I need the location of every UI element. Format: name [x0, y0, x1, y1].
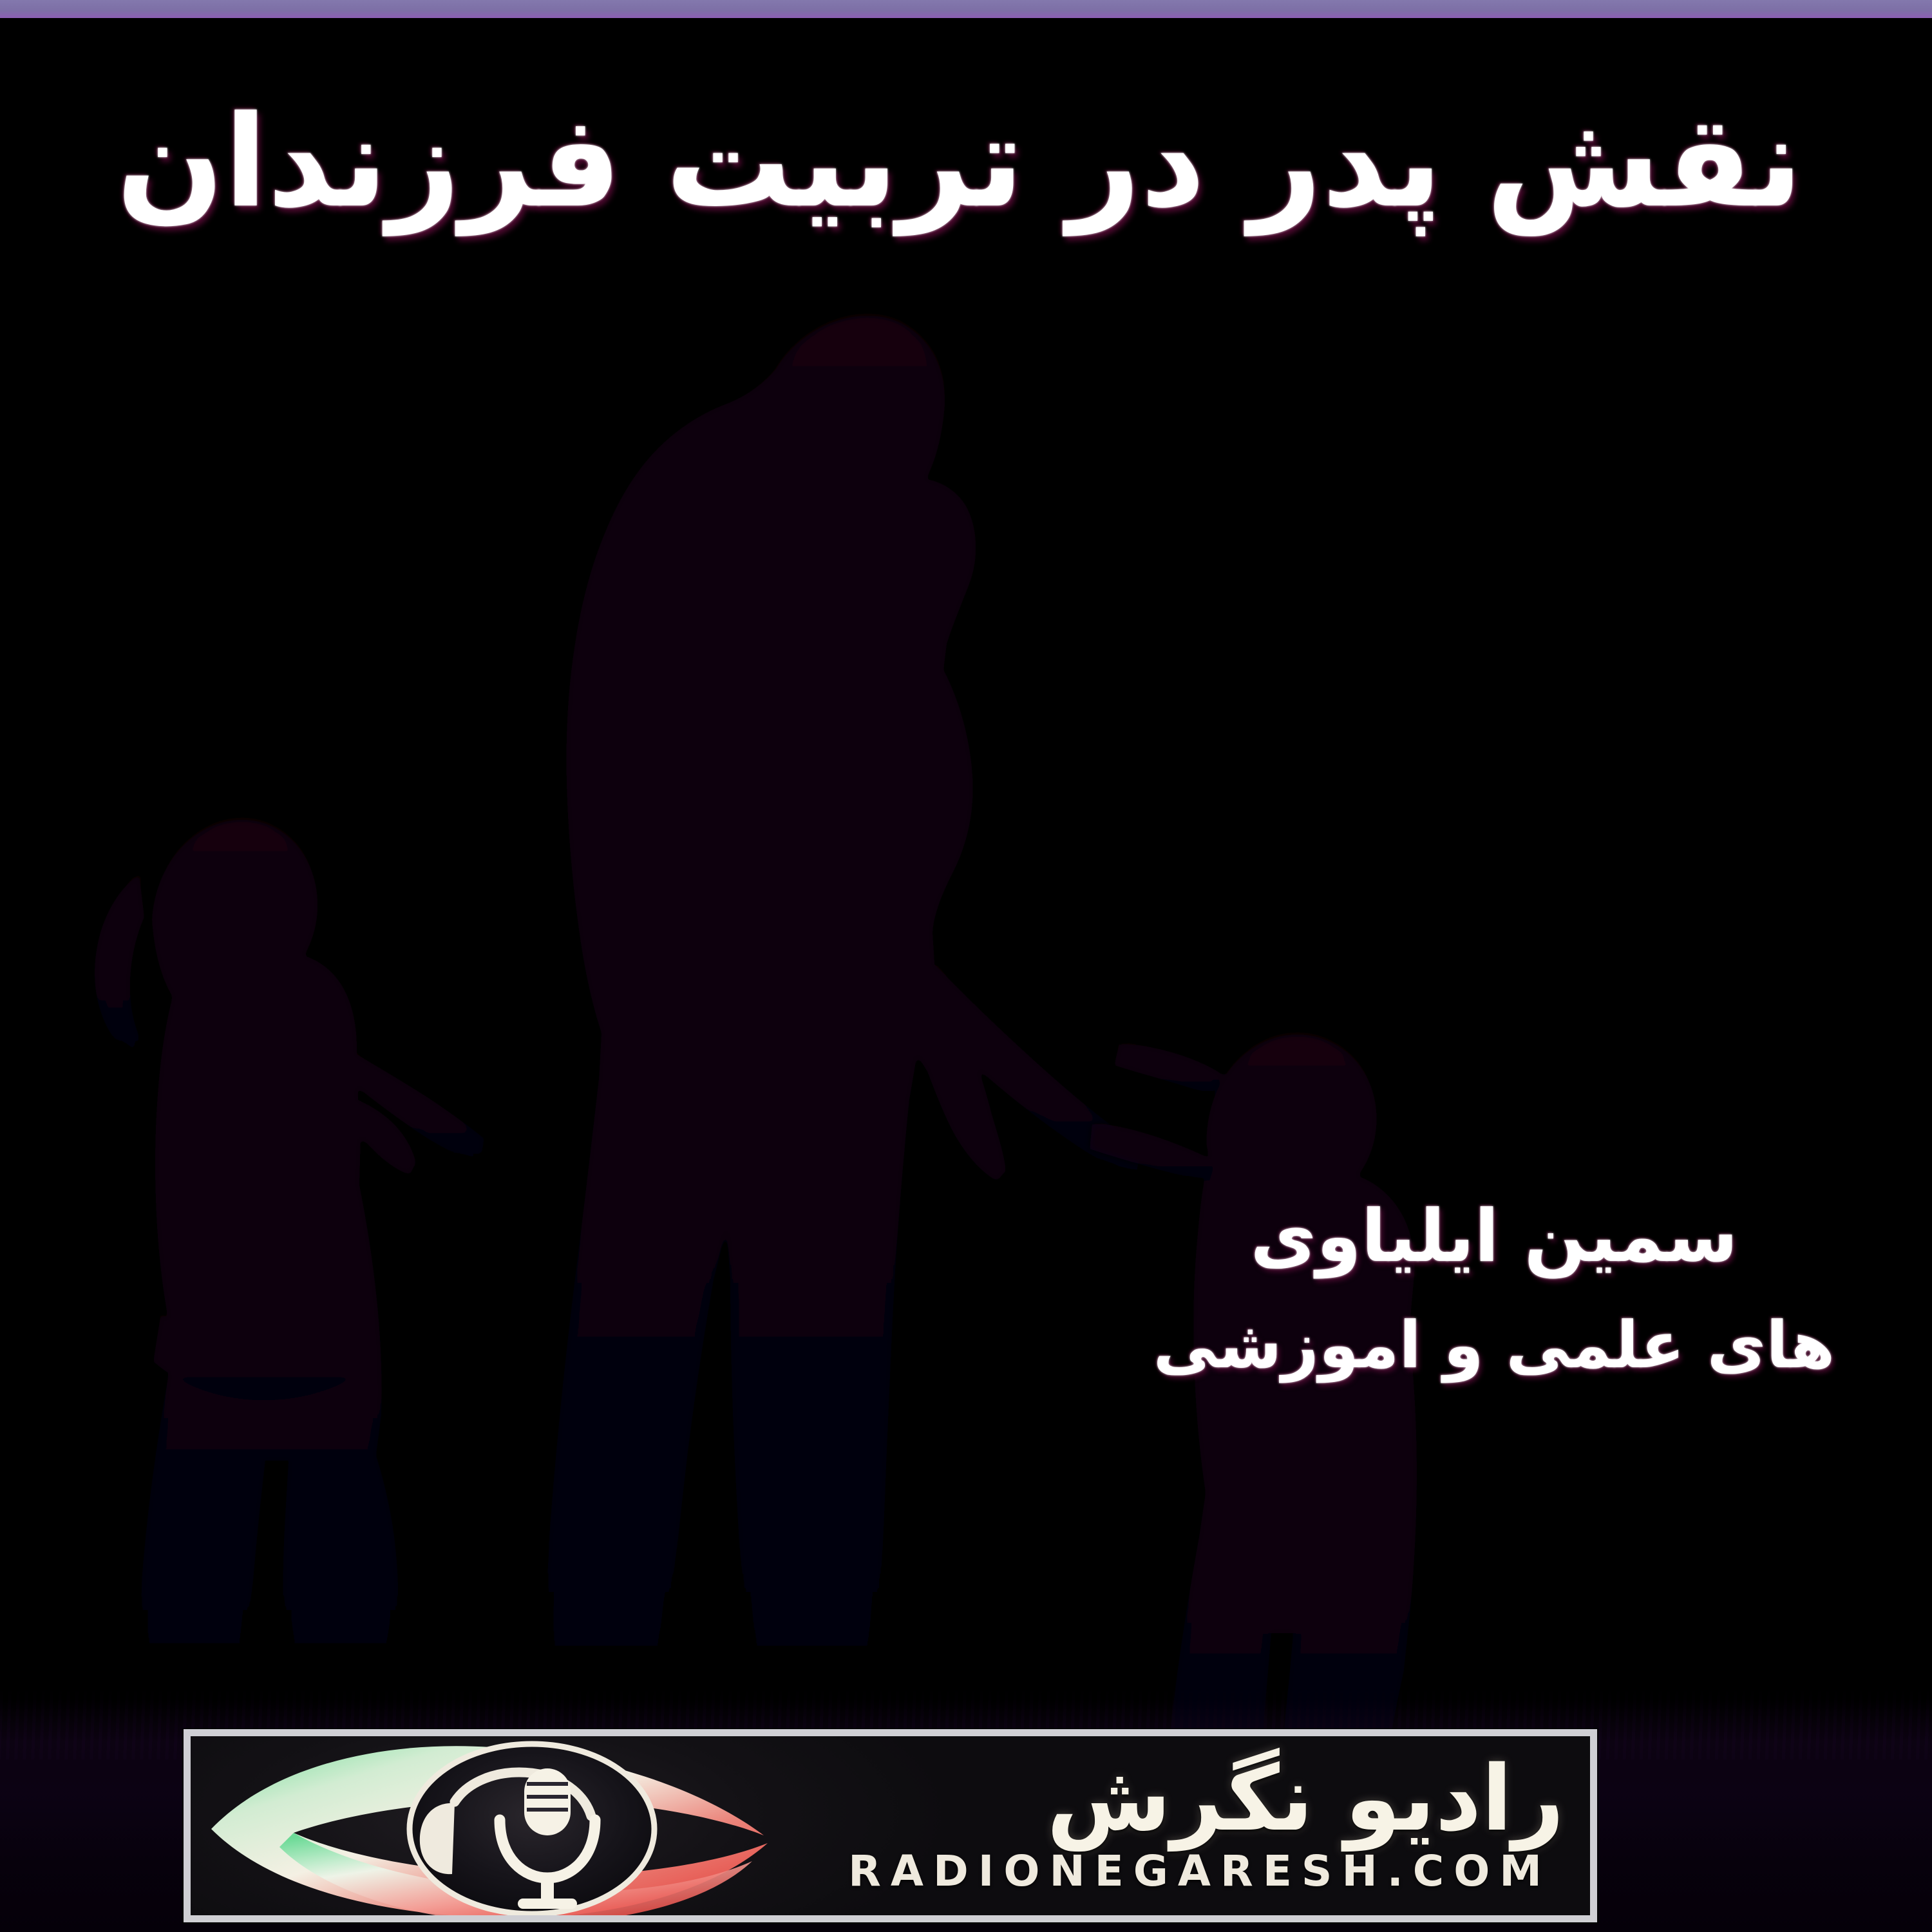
- station-brand-name: رادیو نگرش: [1046, 1754, 1564, 1844]
- microphone-base: [518, 1899, 577, 1909]
- silhouette-group: [0, 18, 1932, 1932]
- top-edge-strip: [0, 0, 1932, 18]
- eye-with-microphone-icon: [197, 1732, 815, 1922]
- silhouette-svg: [0, 18, 1932, 1932]
- father-silhouette: [545, 316, 1148, 1690]
- presenter-role: های علمی و اموزشی: [1011, 1307, 1932, 1383]
- station-website-url: RADIONEGARESH.COM: [848, 1846, 1551, 1896]
- presenter-name: سمین ایلیاوی: [1011, 1195, 1932, 1278]
- podcast-cover-canvas: نقش پدر در تربیت فرزندان سمین ایلیاوی ها…: [0, 0, 1932, 1932]
- sunset-sky-background: [0, 18, 1932, 1932]
- girl-silhouette: [95, 820, 484, 1673]
- station-logo-plate[interactable]: رادیو نگرش RADIONEGARESH.COM: [184, 1729, 1597, 1922]
- page-title: نقش پدر در تربیت فرزندان: [0, 97, 1932, 229]
- logo-plate-inner: رادیو نگرش RADIONEGARESH.COM: [191, 1736, 1590, 1915]
- microphone-capsule: [524, 1768, 571, 1835]
